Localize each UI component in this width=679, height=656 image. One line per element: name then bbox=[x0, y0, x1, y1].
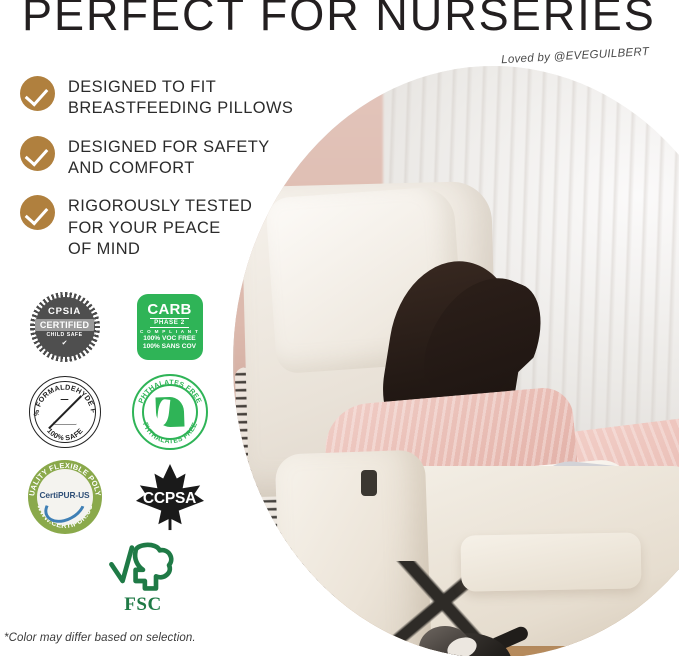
cpsia-line-3: CHILD SAFE bbox=[46, 332, 82, 338]
cpsia-check-icon: ✔ bbox=[62, 339, 68, 347]
ccpsa-label: CCPSA bbox=[143, 490, 196, 508]
badge-row: 100% FORMALDEHYDE FREE 100% SAFE bbox=[12, 369, 222, 454]
certipur-label: CertiPUR-US bbox=[39, 490, 89, 500]
feature-line: BREASTFEEDING PILLOWS bbox=[68, 99, 293, 117]
recliner-footrest bbox=[461, 532, 642, 591]
formaldehyde-free-badge-icon: 100% FORMALDEHYDE FREE 100% SAFE bbox=[29, 376, 101, 448]
check-icon bbox=[20, 76, 55, 111]
cpsia-inner: CPSIA CERTIFIED CHILD SAFE ✔ bbox=[35, 297, 95, 357]
check-icon bbox=[20, 136, 55, 171]
feature-line: AND COMFORT bbox=[68, 159, 195, 177]
badge-row: CERTIFIED FOR QUALITY FLEXIBLE POLYURETH… bbox=[12, 454, 222, 539]
feature-text: RIGOROUSLY TESTED FOR YOUR PEACE OF MIND bbox=[68, 193, 252, 260]
carb-line-4: 100% VOC FREE 100% SANS COV bbox=[143, 335, 196, 351]
photo-credit: Loved by @EVEGUILBERT bbox=[501, 46, 650, 66]
leaf-icon bbox=[155, 396, 184, 427]
disclaimer-text: *Color may differ based on selection. bbox=[4, 632, 196, 644]
feature-line: RIGOROUSLY TESTED bbox=[68, 197, 252, 215]
certipur-badge-icon: CERTIFIED FOR QUALITY FLEXIBLE POLYURETH… bbox=[28, 460, 102, 534]
certification-badges: CPSIA CERTIFIED CHILD SAFE ✔ CARB PHASE … bbox=[12, 284, 222, 619]
cpsia-badge-icon: CPSIA CERTIFIED CHILD SAFE ✔ bbox=[30, 292, 100, 362]
feature-line: OF MIND bbox=[68, 240, 140, 258]
fsc-tree-checkmark-icon bbox=[101, 542, 185, 594]
feature-line: DESIGNED FOR SAFETY bbox=[68, 138, 270, 156]
fsc-label: FSC bbox=[101, 594, 185, 616]
feature-text: DESIGNED FOR SAFETY AND COMFORT bbox=[68, 134, 270, 180]
feature-list: DESIGNED TO FIT BREASTFEEDING PILLOWS DE… bbox=[20, 74, 300, 274]
feature-item: DESIGNED TO FIT BREASTFEEDING PILLOWS bbox=[20, 74, 300, 120]
badge-cell: CARB PHASE 2 C O M P L I A N T 100% VOC … bbox=[117, 294, 222, 360]
badge-cell: 100% FORMALDEHYDE FREE 100% SAFE bbox=[12, 376, 117, 448]
feature-item: DESIGNED FOR SAFETY AND COMFORT bbox=[20, 134, 300, 180]
badge-row: CPSIA CERTIFIED CHILD SAFE ✔ CARB PHASE … bbox=[12, 284, 222, 369]
swoosh-icon bbox=[38, 482, 91, 525]
carb-voc: 100% VOC FREE bbox=[143, 335, 195, 342]
svg-text:100% SAFE: 100% SAFE bbox=[45, 426, 85, 442]
badge-cell: PHTHALATES FREE PHTHALATES FREE bbox=[117, 374, 222, 450]
carb-line-2: PHASE 2 bbox=[150, 318, 189, 328]
phthalates-free-badge-icon: PHTHALATES FREE PHTHALATES FREE bbox=[132, 374, 208, 450]
fsc-badge-icon: FSC bbox=[101, 542, 185, 616]
carb-cov: 100% SANS COV bbox=[143, 343, 196, 350]
formaldehyde-arc-bottom: 100% SAFE bbox=[45, 426, 85, 442]
carb-line-1: CARB bbox=[147, 302, 191, 317]
marketing-image: PERFECT FOR NURSERIES Loved by @EVEGUILB… bbox=[0, 0, 679, 656]
badge-row: FSC bbox=[12, 539, 222, 619]
cpsia-line-1: CPSIA bbox=[48, 306, 81, 317]
carb-line-3: C O M P L I A N T bbox=[140, 329, 199, 334]
feature-text: DESIGNED TO FIT BREASTFEEDING PILLOWS bbox=[68, 74, 293, 120]
carb-badge-icon: CARB PHASE 2 C O M P L I A N T 100% VOC … bbox=[137, 294, 203, 360]
feature-item: RIGOROUSLY TESTED FOR YOUR PEACE OF MIND bbox=[20, 193, 300, 260]
badge-cell: CERTIFIED FOR QUALITY FLEXIBLE POLYURETH… bbox=[12, 460, 117, 534]
page-title: PERFECT FOR NURSERIES bbox=[22, 0, 656, 41]
badge-cell: CCPSA bbox=[117, 462, 222, 532]
feature-line: FOR YOUR PEACE bbox=[68, 219, 221, 237]
certipur-inner: CertiPUR-US bbox=[37, 469, 93, 525]
check-icon bbox=[20, 195, 55, 230]
ccpsa-badge-icon: CCPSA bbox=[133, 462, 207, 532]
recliner-control-knob bbox=[361, 470, 377, 496]
cpsia-line-2: CERTIFIED bbox=[35, 319, 94, 331]
feature-line: DESIGNED TO FIT bbox=[68, 78, 216, 96]
badge-cell: CPSIA CERTIFIED CHILD SAFE ✔ bbox=[12, 292, 117, 362]
